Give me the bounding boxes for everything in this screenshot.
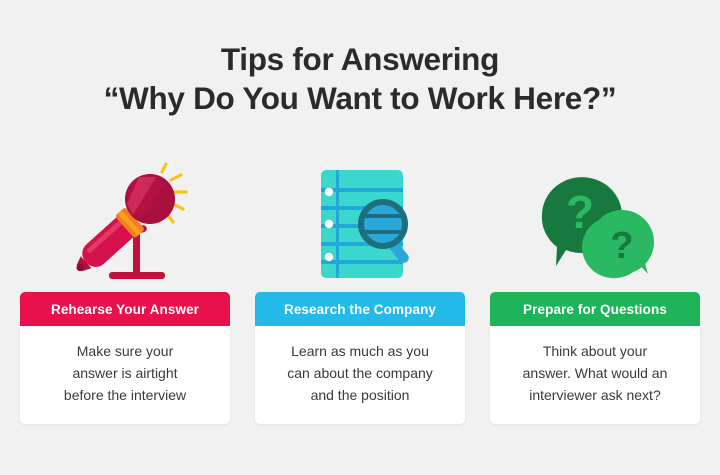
tip-card-header-prepare: Prepare for Questions: [490, 292, 700, 326]
icon-row: ? ?: [0, 160, 720, 290]
tip-card-prepare[interactable]: Prepare for Questions Think about your a…: [490, 292, 700, 424]
tip-card-line: answer is airtight: [32, 362, 218, 384]
microphone-icon: [6, 160, 246, 290]
tip-card-line: before the interview: [32, 384, 218, 406]
question-speech-bubbles-icon: ? ?: [474, 160, 714, 290]
tip-card-header-rehearse: Rehearse Your Answer: [20, 292, 230, 326]
tip-card-line: Think about your: [502, 340, 688, 362]
notepad-magnifier-icon: [240, 160, 480, 290]
tip-card-header-research: Research the Company: [255, 292, 465, 326]
tip-card-body-prepare: Think about your answer. What would an i…: [490, 326, 700, 424]
page-title: Tips for Answering “Why Do You Want to W…: [0, 40, 720, 118]
tip-card-line: and the position: [267, 384, 453, 406]
infographic-canvas: Tips for Answering “Why Do You Want to W…: [0, 0, 720, 475]
title-line-1: Tips for Answering: [0, 40, 720, 79]
tip-card-line: Learn as much as you: [267, 340, 453, 362]
tip-card-line: interviewer ask next?: [502, 384, 688, 406]
title-line-2: “Why Do You Want to Work Here?”: [0, 79, 720, 118]
tip-card-body-rehearse: Make sure your answer is airtight before…: [20, 326, 230, 424]
tip-card-line: can about the company: [267, 362, 453, 384]
tip-card-line: answer. What would an: [502, 362, 688, 384]
tip-card-body-research: Learn as much as you can about the compa…: [255, 326, 465, 424]
tip-card-line: Make sure your: [32, 340, 218, 362]
tip-card-rehearse[interactable]: Rehearse Your Answer Make sure your answ…: [20, 292, 230, 424]
svg-text:?: ?: [610, 225, 633, 267]
tips-card-row: Rehearse Your Answer Make sure your answ…: [0, 292, 720, 432]
tip-card-research[interactable]: Research the Company Learn as much as yo…: [255, 292, 465, 424]
